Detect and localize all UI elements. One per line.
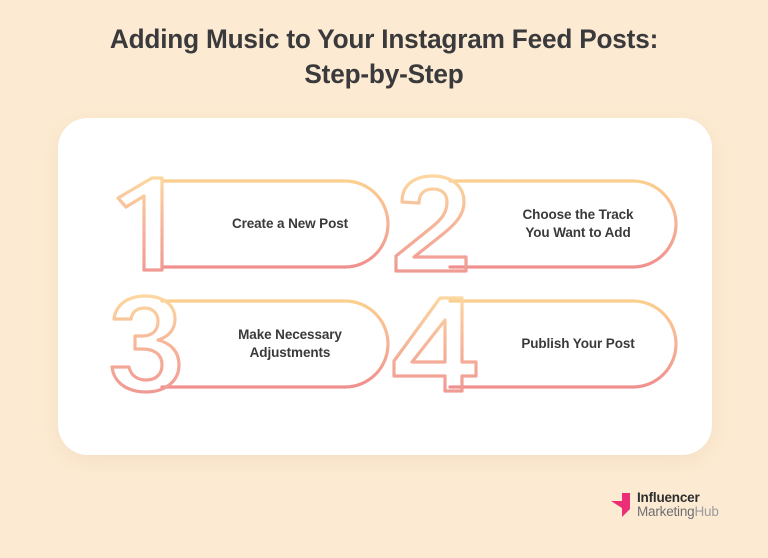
brand-logo[interactable]: Influencer MarketingHub [610, 484, 760, 526]
step-label-4: Publish Your Post [464, 299, 678, 389]
brand-logo-text: Influencer MarketingHub [637, 491, 719, 519]
brand-logo-marketing: Marketing [637, 504, 694, 519]
brand-logo-line-2: MarketingHub [637, 505, 719, 519]
page-title-line-2: Step-by-Step [12, 57, 757, 92]
step-item-2[interactable]: Choose the Track You Want to Add [388, 170, 678, 278]
step-item-1[interactable]: Create a New Post [100, 170, 390, 278]
step-label-2: Choose the Track You Want to Add [464, 179, 678, 269]
step-item-4[interactable]: Publish Your Post [388, 290, 678, 398]
page-title: Adding Music to Your Instagram Feed Post… [12, 22, 757, 92]
step-item-3[interactable]: Make Necessary Adjustments [100, 290, 390, 398]
brand-logo-line-1: Influencer [637, 491, 719, 505]
influencer-marketing-hub-arrow-icon [610, 492, 632, 518]
step-label-1: Create a New Post [176, 179, 390, 269]
page-title-line-1: Adding Music to Your Instagram Feed Post… [12, 22, 757, 57]
steps-container: Create a New Post Choose the Track You W… [58, 118, 712, 455]
brand-logo-hub: Hub [694, 504, 718, 519]
step-label-3: Make Necessary Adjustments [176, 299, 390, 389]
